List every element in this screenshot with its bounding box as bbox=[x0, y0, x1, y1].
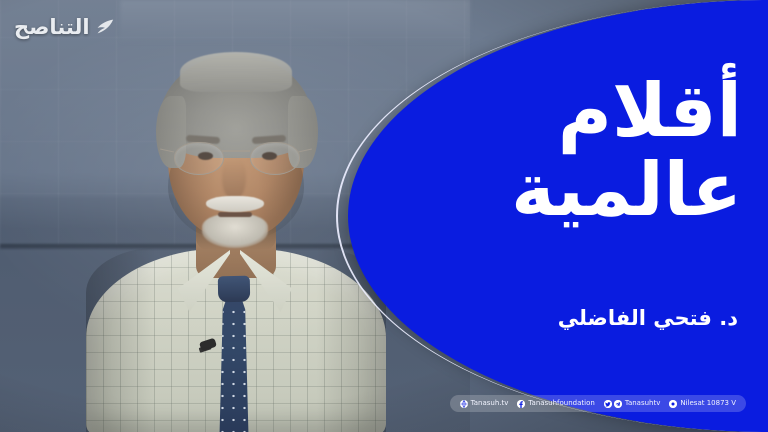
program-title-line-1: أقلام bbox=[442, 74, 742, 149]
twitter-telegram-pair-icon bbox=[604, 400, 622, 408]
broadcast-screen: التناصح أقلام عالمية د. فتحي الفاضلي Tan… bbox=[0, 0, 768, 432]
facebook-icon bbox=[517, 400, 525, 408]
globe-icon bbox=[460, 400, 468, 408]
social-label-facebook: Tanasuhfoundation bbox=[528, 400, 594, 407]
social-item-website: Tanasuh.tv bbox=[460, 400, 509, 408]
social-label-website: Tanasuh.tv bbox=[471, 400, 509, 407]
channel-logo-text: التناصح bbox=[14, 17, 90, 38]
telegram-icon bbox=[614, 400, 622, 408]
program-title: أقلام عالمية bbox=[442, 74, 742, 229]
social-item-satellite: Nilesat 10873 V bbox=[669, 400, 736, 408]
feather-swoosh-icon bbox=[93, 16, 115, 38]
social-item-facebook: Tanasuhfoundation bbox=[517, 400, 594, 408]
social-label-satellite: Nilesat 10873 V bbox=[680, 400, 736, 407]
channel-logo: التناصح bbox=[14, 16, 115, 38]
twitter-icon bbox=[604, 400, 612, 408]
social-label-tanasuhtv: Tanasuhtv bbox=[625, 400, 661, 407]
presenter-name: د. فتحي الفاضلي bbox=[438, 306, 738, 330]
social-item-tanasuhtv: Tanasuhtv bbox=[604, 400, 661, 408]
program-title-line-2: عالمية bbox=[442, 153, 742, 228]
satellite-icon bbox=[669, 400, 677, 408]
social-info-bar: Tanasuh.tv Tanasuhfoundation bbox=[450, 395, 746, 412]
